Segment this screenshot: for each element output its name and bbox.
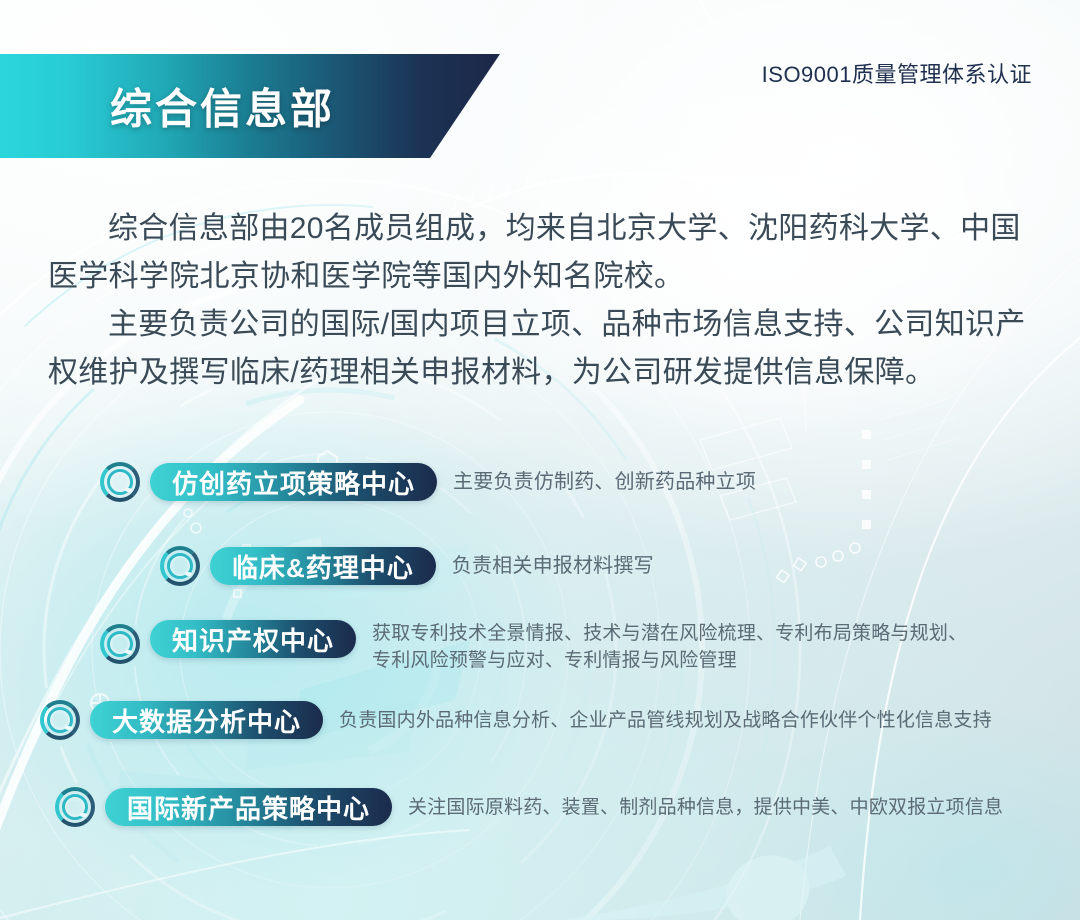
poster-page: 综合信息部 ISO9001质量管理体系认证 综合信息部由20名成员组成，均来自北… [0, 0, 1080, 920]
center-desc-4: 关注国际原料药、装置、制剂品种信息，提供中美、中欧双报立项信息 [408, 794, 1003, 821]
intro-paragraph-2: 主要负责公司的国际/国内项目立项、品种市场信息支持、公司知识产权维护及撰写临床/… [48, 301, 1038, 397]
intro-paragraphs: 综合信息部由20名成员组成，均来自北京大学、沈阳药科大学、中国医学科学院北京协和… [48, 205, 1038, 397]
center-name-0[interactable]: 仿创药立项策略中心 [150, 463, 437, 501]
iso-certification-label: ISO9001质量管理体系认证 [762, 57, 1032, 89]
ring-target-icon [40, 700, 80, 740]
header-banner: 综合信息部 [0, 54, 500, 158]
center-desc-3: 负责国内外品种信息分析、企业产品管线规划及战略合作伙伴个性化信息支持 [339, 707, 992, 734]
intro-paragraph-1: 综合信息部由20名成员组成，均来自北京大学、沈阳药科大学、中国医学科学院北京协和… [48, 205, 1038, 301]
center-desc-2: 获取专利技术全景情报、技术与潜在风险梳理、专利布局策略与规划、 专利风险预警与应… [372, 620, 967, 674]
page-title: 综合信息部 [110, 76, 335, 137]
center-row-0[interactable]: 仿创药立项策略中心 主要负责仿制药、创新药品种立项 [100, 462, 756, 502]
center-row-1[interactable]: 临床&药理中心 负责相关申报材料撰写 [160, 546, 654, 586]
ring-target-icon [55, 787, 95, 827]
center-desc-1: 负责相关申报材料撰写 [452, 552, 654, 580]
center-desc-0: 主要负责仿制药、创新药品种立项 [453, 468, 756, 496]
center-name-3[interactable]: 大数据分析中心 [90, 701, 323, 739]
center-name-4[interactable]: 国际新产品策略中心 [105, 788, 392, 826]
ring-target-icon [100, 462, 140, 502]
center-row-3[interactable]: 大数据分析中心 负责国内外品种信息分析、企业产品管线规划及战略合作伙伴个性化信息… [40, 700, 992, 740]
ring-target-icon [160, 546, 200, 586]
ring-target-icon [100, 624, 140, 664]
center-row-4[interactable]: 国际新产品策略中心 关注国际原料药、装置、制剂品种信息，提供中美、中欧双报立项信… [55, 787, 1003, 827]
center-row-2[interactable]: 知识产权中心 获取专利技术全景情报、技术与潜在风险梳理、专利布局策略与规划、 专… [100, 620, 967, 674]
center-name-2[interactable]: 知识产权中心 [150, 620, 356, 658]
center-name-1[interactable]: 临床&药理中心 [210, 547, 436, 585]
